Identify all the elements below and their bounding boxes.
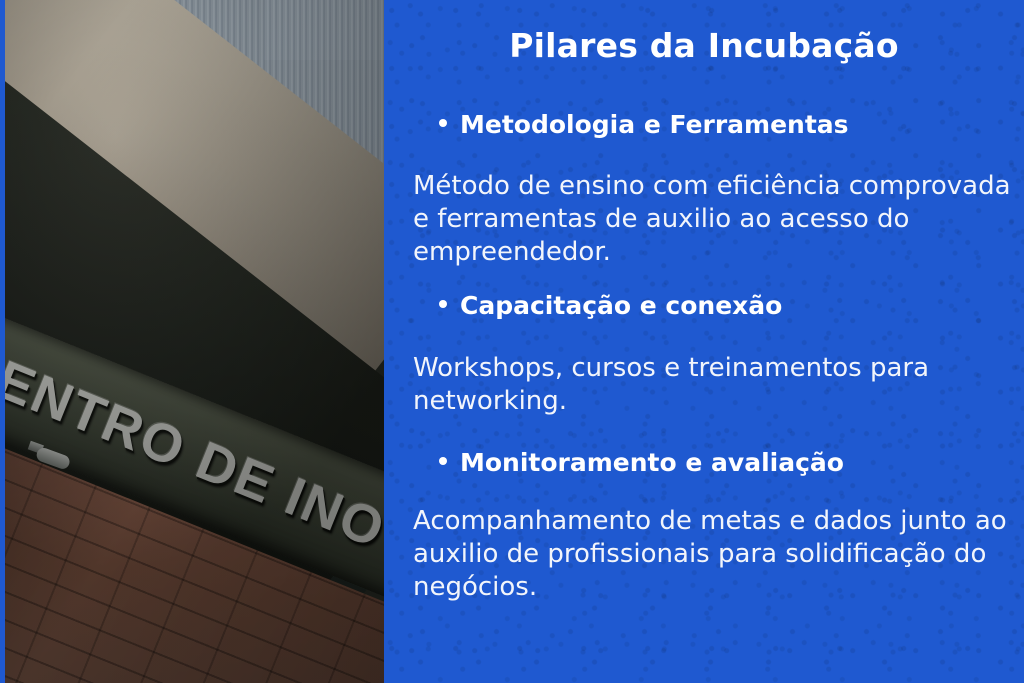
- bullet-heading-label: Capacitação e conexão: [460, 291, 782, 320]
- building-photo: CENTRO DE INOVAÇÃO BLUM: [0, 0, 384, 683]
- content-panel: Pilares da Incubação Metodologia e Ferra…: [384, 0, 1024, 683]
- bullet-heading: Capacitação e conexão: [439, 291, 782, 320]
- bullet-heading: Metodologia e Ferramentas: [439, 110, 849, 139]
- section-paragraph: Método de ensino com eficiência comprova…: [413, 170, 1013, 269]
- presentation-slide: CENTRO DE INOVAÇÃO BLUM Pilares da Incub…: [0, 0, 1024, 683]
- bullet-heading-label: Metodologia e Ferramentas: [460, 110, 849, 139]
- slide-title: Pilares da Incubação: [384, 26, 1024, 65]
- bullet-heading: Monitoramento e avaliação: [439, 448, 844, 477]
- photo-composition: CENTRO DE INOVAÇÃO BLUM: [0, 0, 384, 683]
- section-paragraph: Acompanhamento de metas e dados junto ao…: [413, 505, 1013, 604]
- section-paragraph: Workshops, cursos e treinamentos para ne…: [413, 352, 1013, 418]
- left-accent-strip: [0, 0, 5, 683]
- bullet-dot-icon: [439, 457, 447, 465]
- bullet-dot-icon: [439, 119, 447, 127]
- bullet-dot-icon: [439, 300, 447, 308]
- bullet-heading-label: Monitoramento e avaliação: [460, 448, 844, 477]
